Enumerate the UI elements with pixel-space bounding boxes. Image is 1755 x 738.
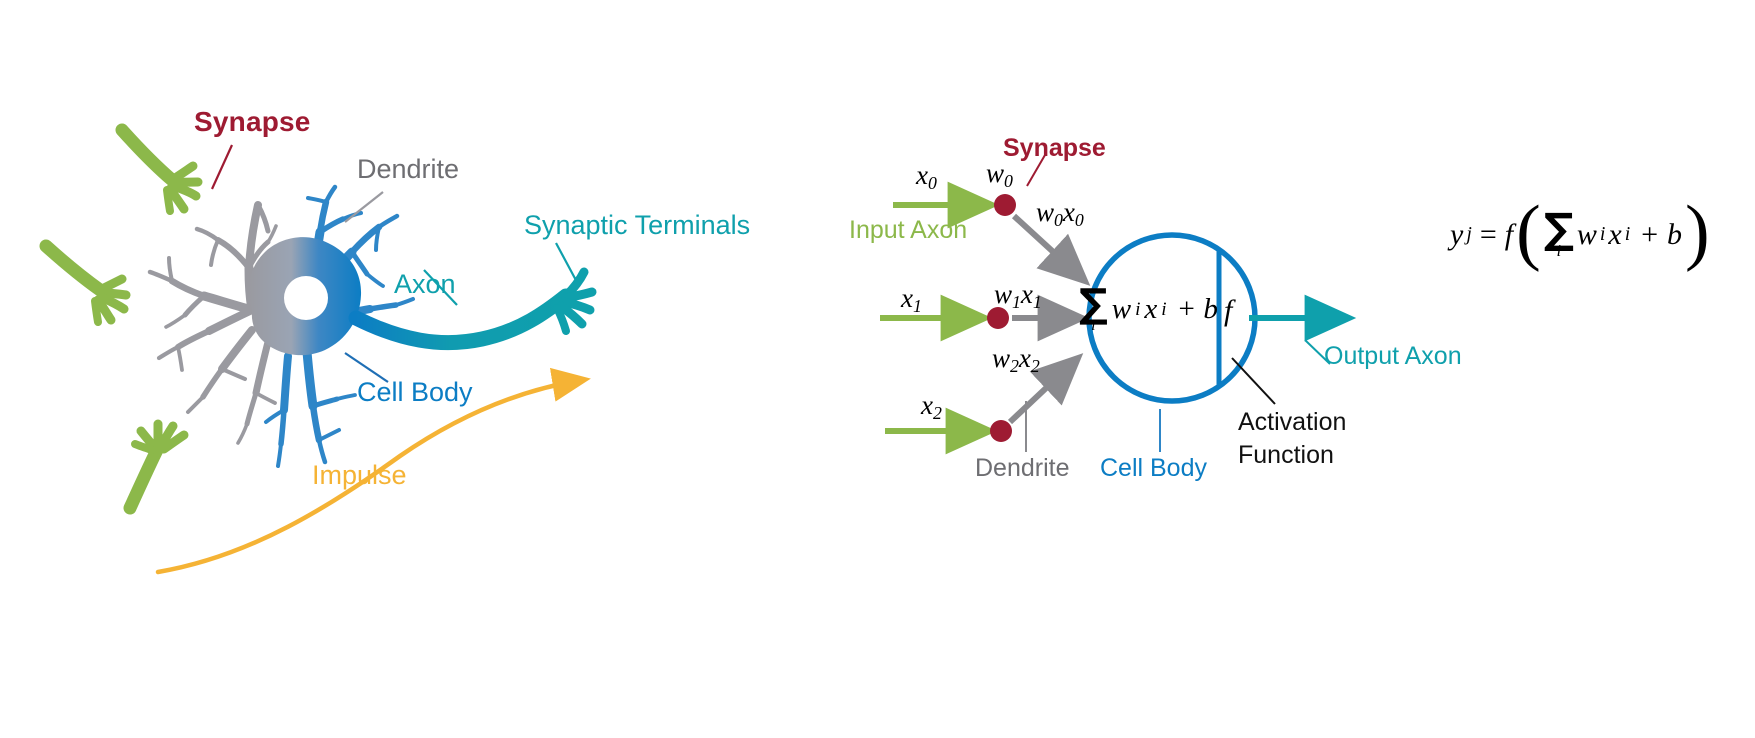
- math-activation-symbol: f: [1224, 296, 1232, 326]
- math-output-equation: yj = f ( ∑ i wixi + b ): [1450, 212, 1710, 258]
- math-weight-w0: w0: [986, 160, 1013, 191]
- leader-synapse-left: [212, 145, 232, 189]
- label-activation-function-line1: Activation: [1238, 410, 1346, 435]
- math-input-x1: x1: [901, 285, 922, 316]
- sigma-icon-equation: ∑ i: [1544, 212, 1574, 258]
- figure-canvas: Synapse Dendrite Synaptic Terminals Axon…: [0, 0, 1755, 738]
- synapse-dot-2: [990, 420, 1012, 442]
- label-dendrite-left: Dendrite: [357, 156, 459, 183]
- leader-dendrite-left: [345, 192, 383, 222]
- cell-body-soma: [248, 237, 361, 355]
- label-impulse: Impulse: [312, 462, 407, 489]
- label-synapse-right: Synapse: [1003, 136, 1106, 161]
- left-neuron-group: [46, 130, 592, 572]
- axon-path: [356, 296, 566, 343]
- math-input-x2: x2: [921, 392, 942, 423]
- leader-synaptic-terminals: [556, 243, 578, 284]
- label-synaptic-terminals: Synaptic Terminals: [524, 212, 750, 239]
- label-synapse-left: Synapse: [194, 108, 311, 136]
- math-product-w1x1: w1x1: [994, 281, 1042, 312]
- open-paren: (: [1516, 210, 1541, 256]
- math-product-w2x2: w2x2: [992, 345, 1040, 376]
- label-activation-function-line2: Function: [1238, 443, 1334, 468]
- math-input-x0: x0: [916, 162, 937, 193]
- sigma-icon: ∑ i: [1079, 288, 1108, 332]
- leader-activation-function: [1232, 358, 1275, 404]
- math-product-w0x0: w0x0: [1036, 199, 1084, 230]
- synapse-dot-0: [994, 194, 1016, 216]
- incoming-axon-terminals: [46, 130, 198, 508]
- synaptic-terminals-shape: [557, 272, 592, 331]
- label-input-axon: Input Axon: [849, 218, 967, 243]
- nucleus: [284, 276, 328, 320]
- label-dendrite-right: Dendrite: [975, 456, 1070, 481]
- label-output-axon: Output Axon: [1324, 344, 1462, 369]
- label-cell-body-right: Cell Body: [1100, 456, 1207, 481]
- math-soma-summation: ∑ i wixi + b: [1079, 288, 1218, 332]
- close-paren: ): [1685, 210, 1710, 256]
- label-axon-left: Axon: [394, 271, 456, 298]
- label-cell-body-left: Cell Body: [357, 379, 473, 406]
